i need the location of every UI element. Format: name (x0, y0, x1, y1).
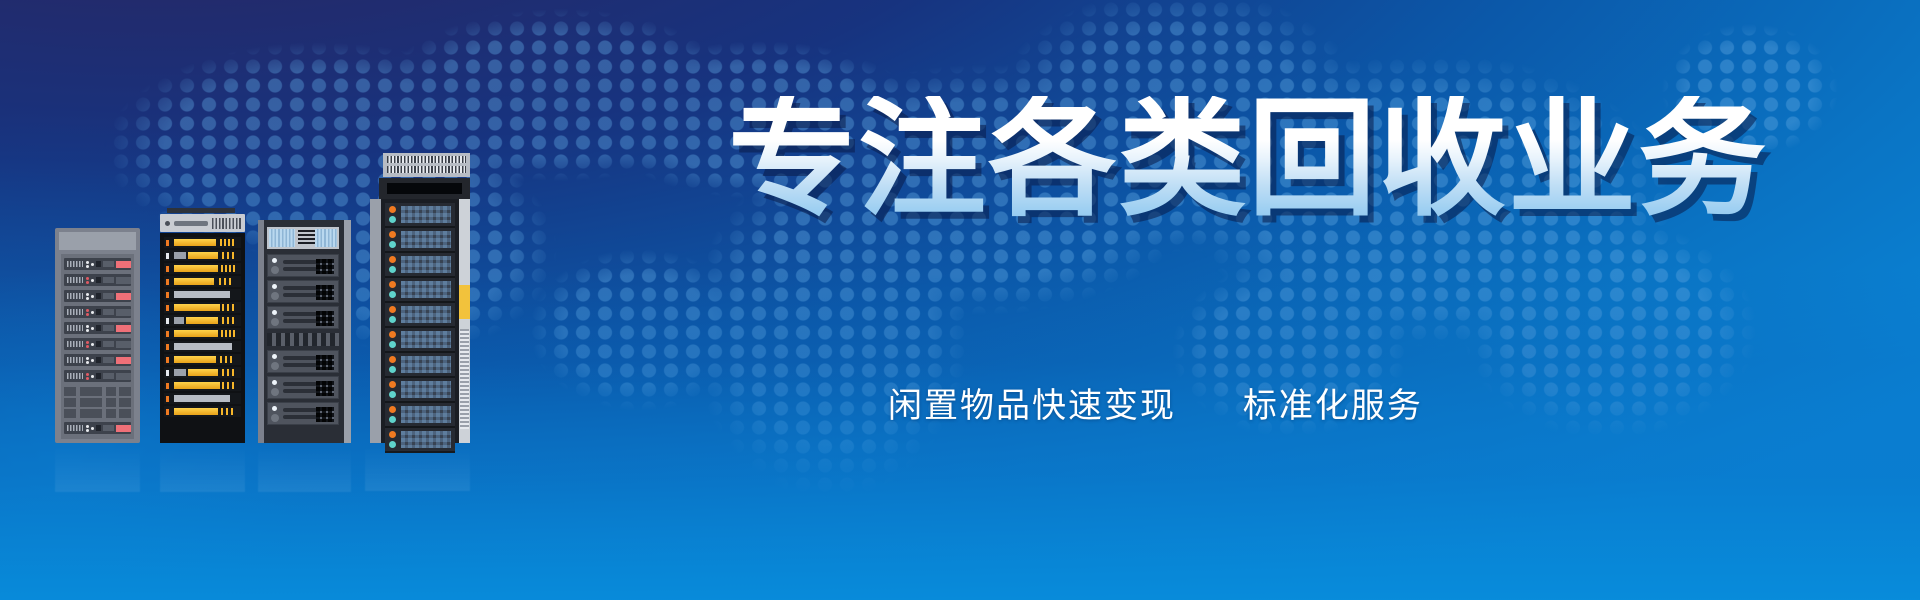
rack4-unit (385, 353, 455, 378)
rack3-unit (267, 350, 339, 373)
rack1-unit (64, 354, 131, 366)
rack2-module (164, 354, 241, 365)
rack4-neck-panel (379, 178, 470, 199)
rack1-unit (64, 338, 131, 350)
rack2-module (164, 367, 241, 378)
rack4-unit (385, 328, 455, 353)
rack4-right-rail (459, 199, 470, 443)
rack4-cabinet (381, 199, 470, 443)
rack1-unit (64, 290, 131, 302)
rack2-module (164, 406, 241, 417)
rack2-cabinet (160, 233, 245, 443)
rack3-vent-head (267, 227, 339, 249)
subtitle-primary: 闲置物品快速变现 (888, 387, 1176, 425)
rack3-unit (267, 402, 339, 425)
rack2-module (164, 250, 241, 261)
promo-banner: 专注各类回收业务 闲置物品快速变现 标准化服务 (0, 0, 1920, 600)
rack4-unit (385, 378, 455, 403)
rack2-top-bar (167, 208, 235, 213)
rack4-unit (385, 403, 455, 428)
rack2-module (164, 276, 241, 287)
rack1-unit (64, 258, 131, 270)
rack1-inner (61, 254, 134, 439)
rack2-module (164, 380, 241, 391)
rack2-module (164, 393, 241, 404)
rack3-right-rail (344, 220, 351, 443)
rack4-unit (385, 428, 455, 453)
banner-title: 专注各类回收业务 (728, 96, 1768, 224)
rack4-unit (385, 203, 455, 228)
rack3-unit (267, 376, 339, 399)
subtitle-secondary: 标准化服务 (1243, 387, 1423, 425)
rack1-block-row (64, 387, 131, 396)
rack4-unit (385, 303, 455, 328)
rack3-reflection (258, 446, 351, 492)
rack3-block-row (267, 333, 339, 346)
rack-grey-red-slots (55, 228, 140, 443)
rack3-unit (267, 280, 339, 303)
rack4-top-cap (383, 153, 470, 177)
rack2-reflection (160, 446, 245, 492)
rack4-unit (385, 228, 455, 253)
rack-tall-orange-teal-leds (365, 153, 470, 443)
rack-black-yellow-modules (160, 208, 245, 443)
rack4-unit (385, 278, 455, 303)
rack2-module (164, 289, 241, 300)
rack1-reflection (55, 446, 140, 492)
rack3-left-rail (258, 220, 264, 443)
rack-darkgrey-blue-vent (258, 220, 351, 443)
rack2-module (164, 341, 241, 352)
rack1-unit (64, 322, 131, 334)
rack2-module (164, 302, 241, 313)
rack2-head-panel (160, 214, 245, 232)
banner-subtitle: 闲置物品快速变现 标准化服务 (888, 378, 1423, 427)
rack1-unit (64, 274, 131, 286)
rack2-module (164, 328, 241, 339)
rack1-block-row (64, 398, 131, 407)
rack1-top-cap (59, 232, 136, 250)
rack3-unit (267, 254, 339, 277)
rack1-unit (64, 306, 131, 318)
rack4-unit (385, 253, 455, 278)
rack2-module (164, 315, 241, 326)
rack2-module (164, 237, 241, 248)
rack3-unit (267, 306, 339, 329)
rack1-unit (64, 370, 131, 382)
rack2-module (164, 263, 241, 274)
rack1-block-row (64, 409, 131, 418)
server-rack-group (55, 143, 495, 443)
rack1-unit (64, 422, 131, 434)
